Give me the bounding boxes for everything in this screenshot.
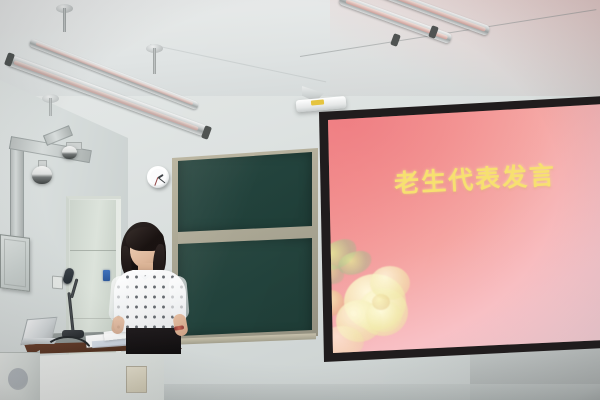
peony-illustration: [314, 238, 444, 362]
wall-outlet[interactable]: [52, 276, 63, 290]
speaker-person: [108, 222, 194, 352]
projection-screen[interactable]: 老生代表发言: [312, 96, 600, 362]
blackboard-sheen: [178, 152, 312, 336]
dome-camera-lower[interactable]: [32, 166, 52, 184]
light-hanger: [63, 8, 66, 32]
wall-clock: [147, 166, 169, 188]
dome-camera-upper[interactable]: [62, 146, 77, 159]
podium-nameplate: [126, 366, 147, 393]
peony-center: [372, 294, 390, 310]
light-hanger: [153, 48, 156, 74]
classroom-photo: 老生代表发言: [0, 0, 600, 400]
skirt: [126, 328, 181, 354]
school-emblem: [8, 368, 28, 390]
electrical-panel-box[interactable]: [0, 234, 30, 292]
light-hanger: [49, 98, 52, 116]
wall-conduit-vertical: [10, 139, 24, 242]
screen-canvas: 老生代表发言: [312, 96, 600, 362]
